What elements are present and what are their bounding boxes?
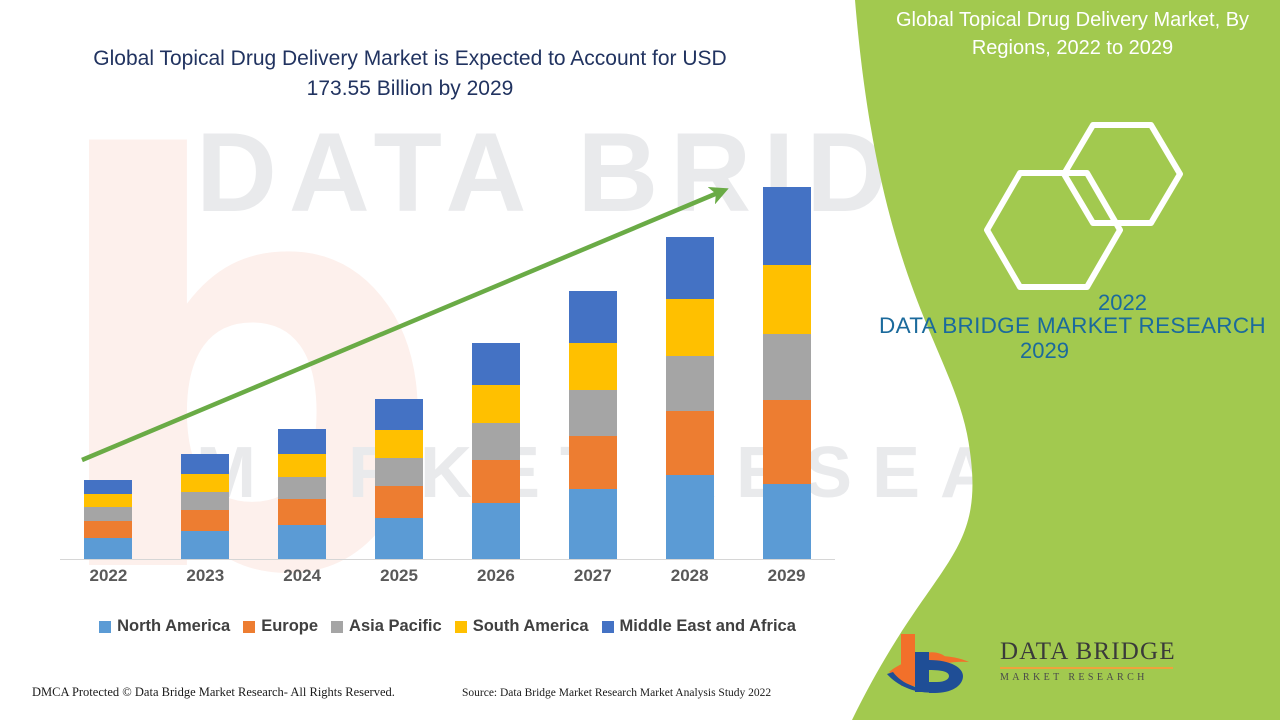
hexagon-group: 2022 2029 [855, 118, 1280, 293]
bar-column [472, 343, 520, 559]
bar-segment [666, 411, 714, 475]
bar-column [666, 237, 714, 559]
logo-text: DATA BRIDGE MARKET RESEARCH [1000, 638, 1176, 683]
legend-item: Europe [243, 617, 318, 636]
bar-segment [375, 486, 423, 518]
right-panel: Global Topical Drug Delivery Market, By … [855, 0, 1280, 720]
x-axis-label: 2022 [84, 566, 132, 586]
bar-segment [569, 489, 617, 559]
source-note: Source: Data Bridge Market Research Mark… [462, 687, 771, 699]
bar-segment [84, 494, 132, 507]
x-axis-line [60, 559, 835, 560]
bar-segment [375, 518, 423, 559]
bar-segment [472, 343, 520, 385]
bar-segment [569, 343, 617, 390]
x-axis-labels: 20222023202420252026202720282029 [60, 566, 835, 586]
bar-segment [84, 507, 132, 521]
bar-segment [181, 474, 229, 492]
x-axis-label: 2028 [666, 566, 714, 586]
x-axis-label: 2024 [278, 566, 326, 586]
legend-swatch [243, 621, 255, 633]
x-axis-label: 2029 [763, 566, 811, 586]
bar-segment [375, 399, 423, 430]
bar-segment [181, 531, 229, 559]
legend-label: South America [473, 617, 589, 636]
bar-segment [181, 454, 229, 474]
legend-item: South America [455, 617, 589, 636]
legend-swatch [455, 621, 467, 633]
bar-segment [763, 265, 811, 334]
bar-segment [666, 356, 714, 411]
bar-segment [569, 390, 617, 436]
bar-segment [84, 480, 132, 494]
chart-area: Global Topical Drug Delivery Market is E… [0, 0, 855, 720]
bar-segment [666, 299, 714, 356]
bar-segment [375, 430, 423, 458]
bar-segment [181, 510, 229, 531]
bar-segment [666, 475, 714, 559]
bar-series-container [60, 170, 835, 559]
bar-segment [278, 477, 326, 499]
bar-segment [472, 503, 520, 559]
bar-segment [278, 499, 326, 525]
page-title: Global Topical Drug Delivery Market is E… [60, 44, 760, 104]
logo-divider [1000, 667, 1173, 669]
bar-segment [569, 291, 617, 343]
bar-column [569, 291, 617, 559]
logo-subtitle: MARKET RESEARCH [1000, 672, 1176, 683]
legend-item: Asia Pacific [331, 617, 442, 636]
bar-segment [763, 187, 811, 265]
stacked-bar-chart [60, 170, 835, 560]
bar-segment [472, 385, 520, 423]
chart-legend: North AmericaEuropeAsia PacificSouth Ame… [60, 617, 835, 636]
bar-segment [472, 460, 520, 503]
bar-column [84, 480, 132, 559]
bar-segment [763, 334, 811, 400]
bar-segment [84, 538, 132, 559]
bar-column [763, 187, 811, 559]
legend-label: Middle East and Africa [620, 617, 796, 636]
x-axis-label: 2023 [181, 566, 229, 586]
legend-swatch [99, 621, 111, 633]
bar-segment [763, 484, 811, 559]
bar-segment [375, 458, 423, 486]
legend-swatch [602, 621, 614, 633]
bar-segment [278, 454, 326, 477]
legend-swatch [331, 621, 343, 633]
bar-column [278, 429, 326, 559]
bar-segment [569, 436, 617, 489]
x-axis-label: 2027 [569, 566, 617, 586]
bar-column [375, 399, 423, 559]
legend-item: Middle East and Africa [602, 617, 796, 636]
bar-segment [666, 237, 714, 299]
hexagon-2029-icon [987, 173, 1120, 287]
legend-label: North America [117, 617, 230, 636]
data-bridge-logo: DATA BRIDGE MARKET RESEARCH [885, 630, 1245, 700]
x-axis-label: 2025 [375, 566, 423, 586]
bar-segment [278, 525, 326, 559]
bar-segment [278, 429, 326, 454]
bar-column [181, 454, 229, 559]
legend-item: North America [99, 617, 230, 636]
legend-label: Asia Pacific [349, 617, 442, 636]
x-axis-label: 2026 [472, 566, 520, 586]
bar-segment [181, 492, 229, 510]
brand-name: DATA BRIDGE MARKET RESEARCH [865, 310, 1280, 343]
bar-segment [472, 423, 520, 460]
bar-segment [763, 400, 811, 484]
legend-label: Europe [261, 617, 318, 636]
logo-title: DATA BRIDGE [1000, 638, 1176, 666]
bar-segment [84, 521, 132, 538]
logo-mark-icon [885, 630, 990, 696]
copyright-notice: DMCA Protected © Data Bridge Market Rese… [32, 685, 395, 700]
panel-heading: Global Topical Drug Delivery Market, By … [865, 6, 1280, 63]
